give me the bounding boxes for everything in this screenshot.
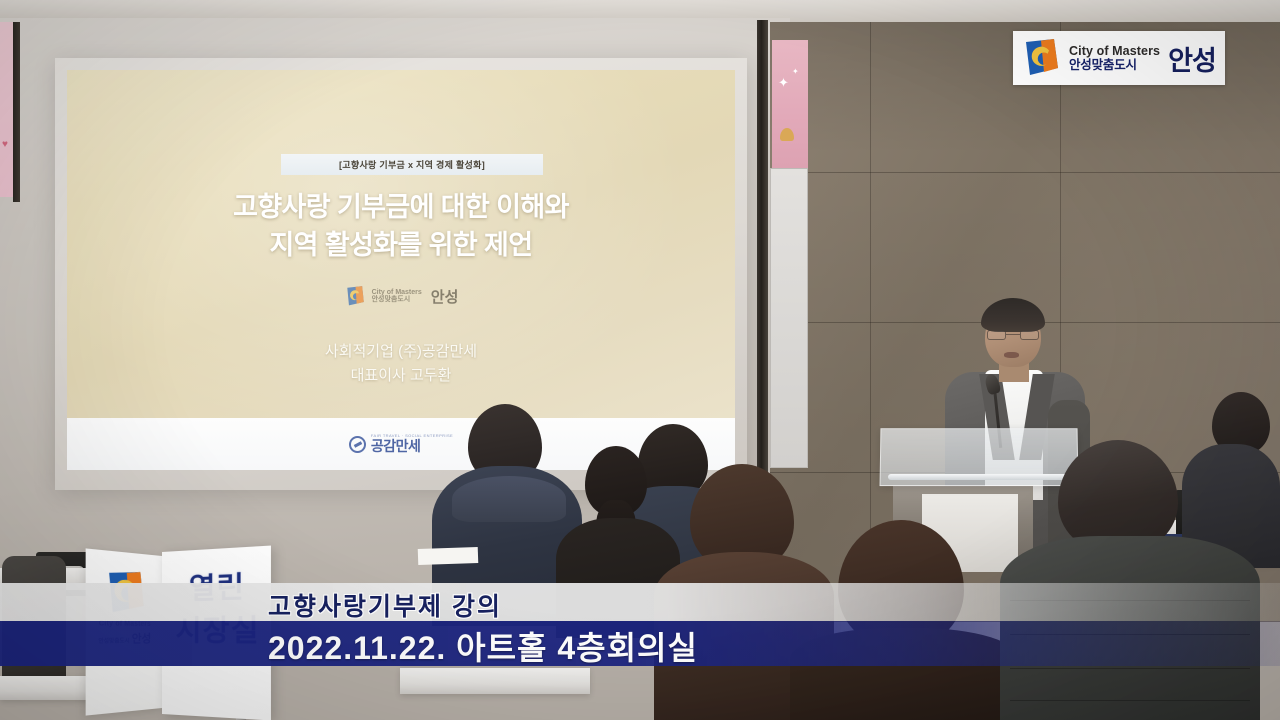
slide-presenter-block: 사회적기업 (주)공감만세 대표이사 고두환 <box>67 340 735 388</box>
audience-hood <box>452 476 566 522</box>
lower-third-title: 고향사랑기부제 강의 <box>268 587 502 623</box>
presentation-slide: [고향사랑 기부금 x 지역 경제 활성화] 고향사랑 기부금에 대한 이해와 … <box>67 70 735 470</box>
slide-logo-english: City of Masters <box>372 289 422 296</box>
heart-icon: ♥ <box>2 140 8 150</box>
compass-icon <box>349 436 366 453</box>
whiteboard <box>770 168 808 468</box>
anseong-mark-icon <box>1021 38 1061 78</box>
sparkle-icon: ✦ <box>778 76 789 89</box>
broadcaster-logo-plate: City of Masters 안성맞춤도시 안성 <box>1013 31 1225 85</box>
slide-presenter-name: 대표이사 고두환 <box>67 364 735 388</box>
lower-third-subtitle: 2022.11.22. 아트홀 4층회의실 <box>268 623 698 669</box>
speaker-mouth <box>1004 352 1019 358</box>
slide-title-line1: 고향사랑 기부금에 대한 이해와 <box>67 188 735 226</box>
lower-third-upper-bar <box>0 583 1280 621</box>
sparkle-icon: ✦ <box>792 68 799 76</box>
logo-korean-main: 안성 <box>1168 39 1216 78</box>
poster-pink-right: ✦ ✦ <box>772 40 808 168</box>
glasses-icon <box>987 330 1039 340</box>
slide-title-line2: 지역 활성화를 위한 제언 <box>67 226 735 264</box>
slide-topic-badge: [고향사랑 기부금 x 지역 경제 활성화] <box>281 154 543 175</box>
slide-presenter-org: 사회적기업 (주)공감만세 <box>67 340 735 364</box>
slide-footer-brand: 공감만세 <box>371 439 453 454</box>
anseong-mark-icon <box>344 285 366 307</box>
poster-pink-left: ♥ <box>0 22 14 197</box>
slide-logo-korean-sub: 안성맞춤도시 <box>372 296 422 303</box>
slide-title: 고향사랑 기부금에 대한 이해와 지역 활성화를 위한 제언 <box>67 188 735 265</box>
logo-english: City of Masters <box>1069 44 1160 58</box>
logo-korean-sub: 안성맞춤도시 <box>1069 58 1160 72</box>
slide-logo-korean-main: 안성 <box>431 286 459 307</box>
video-frame: ♥ ✦ ✦ [고향사랑 기부금 x 지역 경제 활성화] 고향사랑 기부금에 대… <box>0 0 1280 720</box>
table <box>400 668 590 694</box>
lectern-rail <box>888 474 1070 480</box>
door-frame-left <box>13 22 20 202</box>
slide-city-logo: City of Masters 안성맞춤도시 안성 <box>67 285 735 307</box>
paper-sheet <box>418 547 479 565</box>
bell-icon <box>780 128 794 141</box>
projector-glow <box>67 70 735 470</box>
